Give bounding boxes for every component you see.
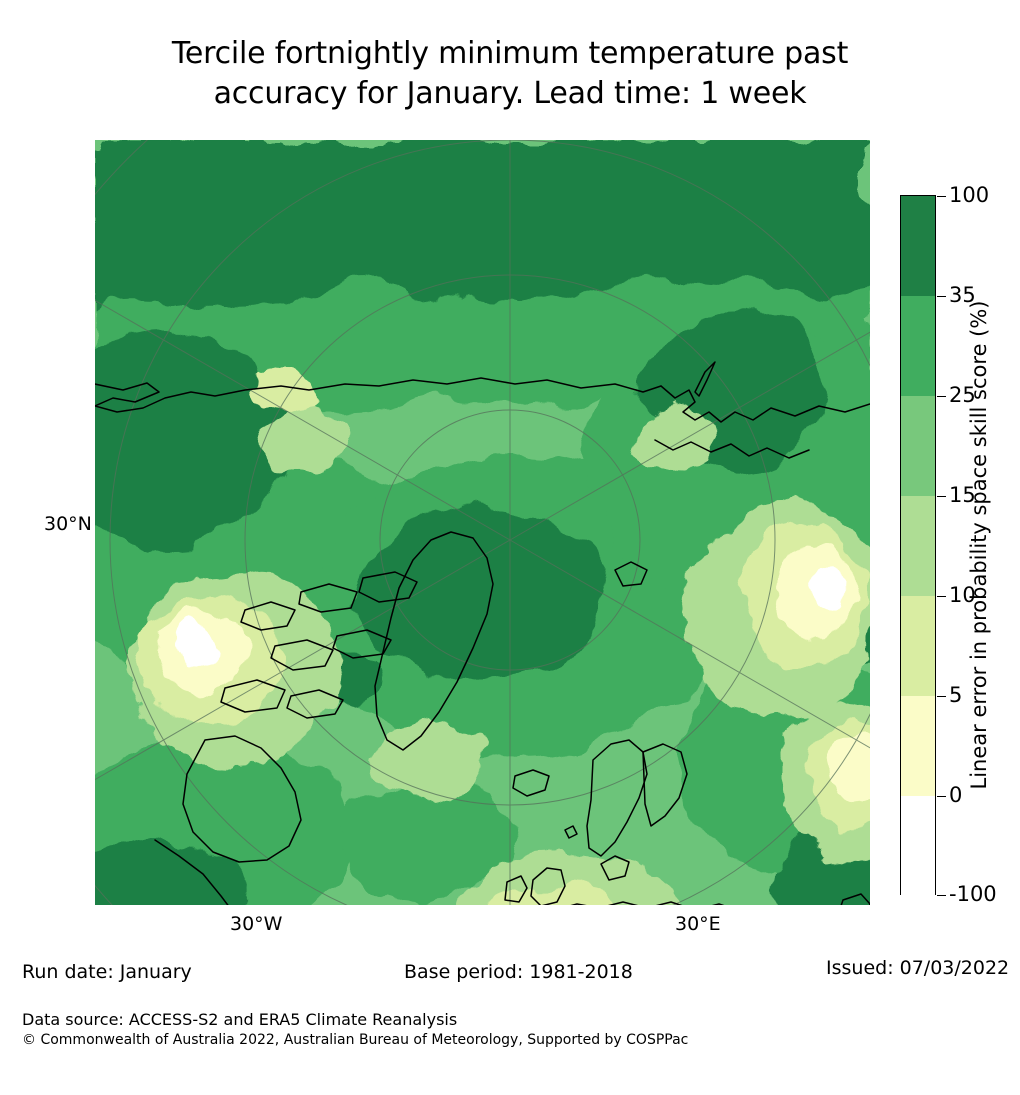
lon-tick-30w: 30°W xyxy=(230,913,282,935)
colorbar-band-10-15 xyxy=(901,496,935,596)
lon-tick-30e: 30°E xyxy=(675,913,721,935)
colorbar xyxy=(900,195,936,895)
colorbar-tick-mark xyxy=(937,596,946,597)
map-plot-area xyxy=(95,140,870,905)
colorbar-band-25-35 xyxy=(901,296,935,396)
colorbar-axis-label: Linear error in probability space skill … xyxy=(962,195,996,895)
colorbar-tick-mark xyxy=(937,296,946,297)
colorbar-tick-mark xyxy=(937,496,946,497)
page-title: Tercile fortnightly minimum temperature … xyxy=(0,34,1020,114)
footer-data-source: Data source: ACCESS-S2 and ERA5 Climate … xyxy=(22,1010,457,1029)
colorbar-ticklabel-5: 5 xyxy=(949,685,962,706)
skill-score-field xyxy=(95,140,870,905)
colorbar-ticklabel-0: 0 xyxy=(949,785,962,806)
footer-base-period: Base period: 1981-2018 xyxy=(404,961,633,983)
colorbar-tick-mark xyxy=(937,196,946,197)
colorbar-tick-mark xyxy=(937,696,946,697)
colorbar-tick-mark xyxy=(937,396,946,397)
colorbar-band-5-10 xyxy=(901,596,935,696)
lat-tick-30n: 30°N xyxy=(44,513,92,535)
footer-run-date: Run date: January xyxy=(22,961,192,983)
colorbar-tick-mark xyxy=(937,796,946,797)
colorbar-band-35-100 xyxy=(901,196,935,296)
footer-issued-date: Issued: 07/03/2022 xyxy=(826,957,1009,979)
colorbar-band-15-25 xyxy=(901,396,935,496)
colorbar-tick-mark xyxy=(937,895,946,896)
colorbar-band-0-5 xyxy=(901,696,935,796)
footer-copyright: © Commonwealth of Australia 2022, Austra… xyxy=(22,1032,688,1048)
colorbar-band-neg100-0 xyxy=(901,796,935,896)
